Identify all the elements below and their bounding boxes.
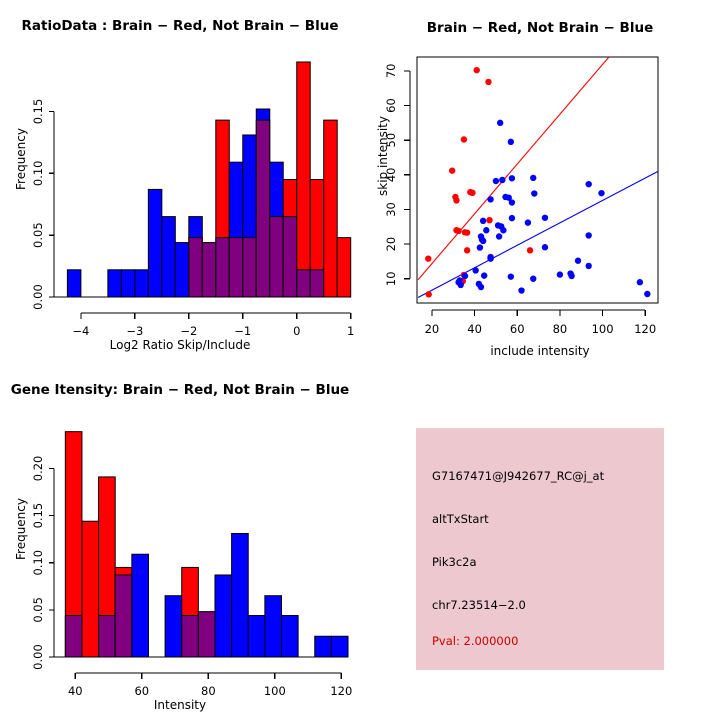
histogram-bar-overlap bbox=[65, 616, 82, 657]
x-axis-tick-label: 40 bbox=[467, 322, 482, 336]
scatter-point bbox=[568, 273, 574, 279]
x-axis-tick-label: −2 bbox=[180, 324, 197, 338]
scatter-point bbox=[518, 287, 524, 293]
y-axis-tick-label: 0.10 bbox=[31, 161, 45, 187]
histogram-bar bbox=[248, 616, 265, 657]
scatter-point bbox=[477, 244, 483, 250]
scatter-ylabel: skip intensity bbox=[376, 116, 390, 196]
histogram-bar bbox=[265, 596, 282, 657]
y-axis-tick-label: 20 bbox=[384, 237, 398, 252]
scatter-point bbox=[598, 190, 604, 196]
scatter-point bbox=[474, 67, 480, 73]
scatter-point bbox=[461, 136, 467, 142]
histogram-bar-overlap bbox=[229, 238, 242, 297]
plot-frame bbox=[417, 57, 658, 303]
y-axis-tick-label: 10 bbox=[384, 271, 398, 286]
x-axis-tick-label: 60 bbox=[510, 322, 525, 336]
histogram-bar bbox=[121, 270, 134, 297]
scatter-point bbox=[525, 219, 531, 225]
histogram-bar-overlap bbox=[270, 217, 283, 297]
scatter-point bbox=[527, 247, 533, 253]
scatter-point bbox=[464, 229, 470, 235]
y-axis-tick-label: 0.15 bbox=[31, 99, 45, 125]
histogram-bar-overlap bbox=[310, 270, 323, 297]
panel-ratio-histogram: RatioData : Brain − Red, Not Brain − Blu… bbox=[0, 0, 360, 360]
histogram-bar-overlap bbox=[189, 238, 202, 297]
scatter-point bbox=[456, 277, 462, 283]
panel-scatter: Brain − Red, Not Brain − Blue 2040608010… bbox=[360, 0, 720, 360]
scatter-point bbox=[481, 272, 487, 278]
event-type-text: altTxStart bbox=[432, 512, 489, 526]
ratio-histogram-ylabel: Frequency bbox=[14, 128, 28, 190]
histogram-bar bbox=[165, 596, 182, 657]
histogram-bar-overlap bbox=[99, 616, 116, 657]
histogram-bar bbox=[132, 554, 149, 657]
scatter-plot: 2040608010012010203040506070 bbox=[360, 0, 720, 360]
histogram-bar-overlap bbox=[198, 612, 215, 657]
scatter-point bbox=[530, 175, 536, 181]
x-axis-tick-label: 80 bbox=[201, 684, 216, 698]
scatter-point bbox=[455, 228, 461, 234]
y-axis-tick-label: 70 bbox=[384, 64, 398, 79]
scatter-point bbox=[531, 190, 537, 196]
ratio-histogram-xlabel: Log2 Ratio Skip/Include bbox=[0, 338, 360, 352]
x-axis-tick-label: 40 bbox=[68, 684, 83, 698]
y-axis-tick-label: 0.05 bbox=[31, 222, 45, 248]
histogram-bar bbox=[232, 533, 249, 657]
x-axis-tick-label: −3 bbox=[126, 324, 143, 338]
x-axis-tick-label: 0 bbox=[293, 324, 300, 338]
scatter-point bbox=[496, 233, 502, 239]
histogram-bar bbox=[148, 189, 161, 297]
ratio-histogram-plot: 0.000.050.100.15−4−3−2−101 bbox=[0, 0, 360, 360]
y-axis-tick-label: 0.00 bbox=[31, 644, 45, 670]
histogram-bar-overlap bbox=[283, 217, 296, 297]
histogram-bar bbox=[331, 636, 348, 657]
histogram-bar bbox=[281, 616, 298, 657]
scatter-point bbox=[426, 291, 432, 297]
scatter-point bbox=[500, 227, 506, 233]
y-axis-tick-label: 0.20 bbox=[31, 456, 45, 482]
histogram-bar bbox=[135, 270, 148, 297]
scatter-xlabel: include intensity bbox=[360, 344, 720, 358]
scatter-point bbox=[464, 247, 470, 253]
scatter-point bbox=[542, 244, 548, 250]
panel-gene-histogram: Gene Itensity: Brain − Red, Not Brain − … bbox=[0, 360, 360, 720]
histogram-bar-overlap bbox=[182, 616, 199, 657]
x-axis-tick-label: 100 bbox=[264, 684, 286, 698]
x-axis-tick-label: 80 bbox=[553, 322, 568, 336]
regression-line-not-brain-fit bbox=[418, 171, 658, 297]
x-axis-tick-label: −4 bbox=[72, 324, 89, 338]
panel-annotation-box: G7167471@J942677_RC@j_at altTxStart Pik3… bbox=[416, 428, 664, 670]
scatter-point bbox=[585, 181, 591, 187]
gene-symbol-text: Pik3c2a bbox=[432, 555, 477, 569]
histogram-bar-overlap bbox=[256, 120, 269, 297]
regression-line-brain-fit bbox=[418, 57, 609, 280]
scatter-point bbox=[509, 175, 515, 181]
histogram-bar-overlap bbox=[115, 575, 132, 657]
scatter-point bbox=[585, 263, 591, 269]
histogram-bar bbox=[82, 521, 99, 657]
histogram-bar-overlap bbox=[202, 243, 215, 297]
scatter-point bbox=[557, 271, 563, 277]
x-axis-tick-label: 100 bbox=[592, 322, 614, 336]
scatter-point bbox=[644, 291, 650, 297]
scatter-point bbox=[483, 227, 489, 233]
scatter-point bbox=[493, 178, 499, 184]
scatter-point bbox=[585, 232, 591, 238]
scatter-point bbox=[453, 197, 459, 203]
gene-histogram-ylabel: Frequency bbox=[14, 498, 28, 560]
y-axis-tick-label: 30 bbox=[384, 202, 398, 217]
scatter-point bbox=[462, 273, 468, 279]
scatter-point bbox=[487, 196, 493, 202]
scatter-point bbox=[637, 279, 643, 285]
histogram-bar-overlap bbox=[297, 270, 310, 297]
y-axis-tick-label: 0.05 bbox=[31, 597, 45, 623]
scatter-point bbox=[469, 190, 475, 196]
x-axis-tick-label: 60 bbox=[134, 684, 149, 698]
scatter-point bbox=[508, 139, 514, 145]
histogram-bar-overlap bbox=[243, 238, 256, 297]
gene-histogram-plot: 0.000.050.100.150.20406080100120 bbox=[0, 360, 360, 720]
scatter-point bbox=[472, 267, 478, 273]
gene-histogram-xlabel: Intensity bbox=[0, 698, 360, 712]
scatter-point bbox=[497, 120, 503, 126]
histogram-bar bbox=[337, 238, 350, 297]
x-axis-tick-label: 1 bbox=[347, 324, 354, 338]
histogram-bar bbox=[324, 120, 337, 297]
y-axis-tick-label: 0.00 bbox=[31, 284, 45, 310]
histogram-bar bbox=[162, 217, 175, 297]
x-axis-tick-label: −1 bbox=[234, 324, 251, 338]
y-axis-tick-label: 60 bbox=[384, 98, 398, 113]
scatter-point bbox=[480, 238, 486, 244]
scatter-point bbox=[478, 284, 484, 290]
scatter-point bbox=[425, 255, 431, 261]
histogram-bar-overlap bbox=[216, 238, 229, 297]
scatter-point bbox=[487, 254, 493, 260]
scatter-point bbox=[486, 217, 492, 223]
scatter-point bbox=[499, 177, 505, 183]
probe-id-text: G7167471@J942677_RC@j_at bbox=[432, 469, 604, 483]
histogram-bar bbox=[67, 270, 80, 297]
scatter-point bbox=[509, 215, 515, 221]
x-axis-tick-label: 120 bbox=[634, 322, 656, 336]
y-axis-tick-label: 0.15 bbox=[31, 503, 45, 529]
scatter-point bbox=[480, 218, 486, 224]
histogram-bar bbox=[175, 243, 188, 297]
scatter-point bbox=[509, 199, 515, 205]
scatter-point bbox=[508, 273, 514, 279]
locus-text: chr7.23514−2.0 bbox=[432, 598, 526, 612]
histogram-bar bbox=[297, 62, 310, 297]
x-axis-tick-label: 120 bbox=[330, 684, 352, 698]
histogram-bar bbox=[315, 636, 332, 657]
x-axis-tick-label: 20 bbox=[425, 322, 440, 336]
scatter-point bbox=[485, 79, 491, 85]
pval-text: Pval: 2.000000 bbox=[432, 634, 518, 648]
scatter-point bbox=[542, 215, 548, 221]
scatter-point bbox=[449, 167, 455, 173]
scatter-point bbox=[530, 276, 536, 282]
scatter-point bbox=[575, 258, 581, 264]
y-axis-tick-label: 0.10 bbox=[31, 550, 45, 576]
histogram-bar bbox=[108, 270, 121, 297]
histogram-bar bbox=[215, 575, 232, 657]
